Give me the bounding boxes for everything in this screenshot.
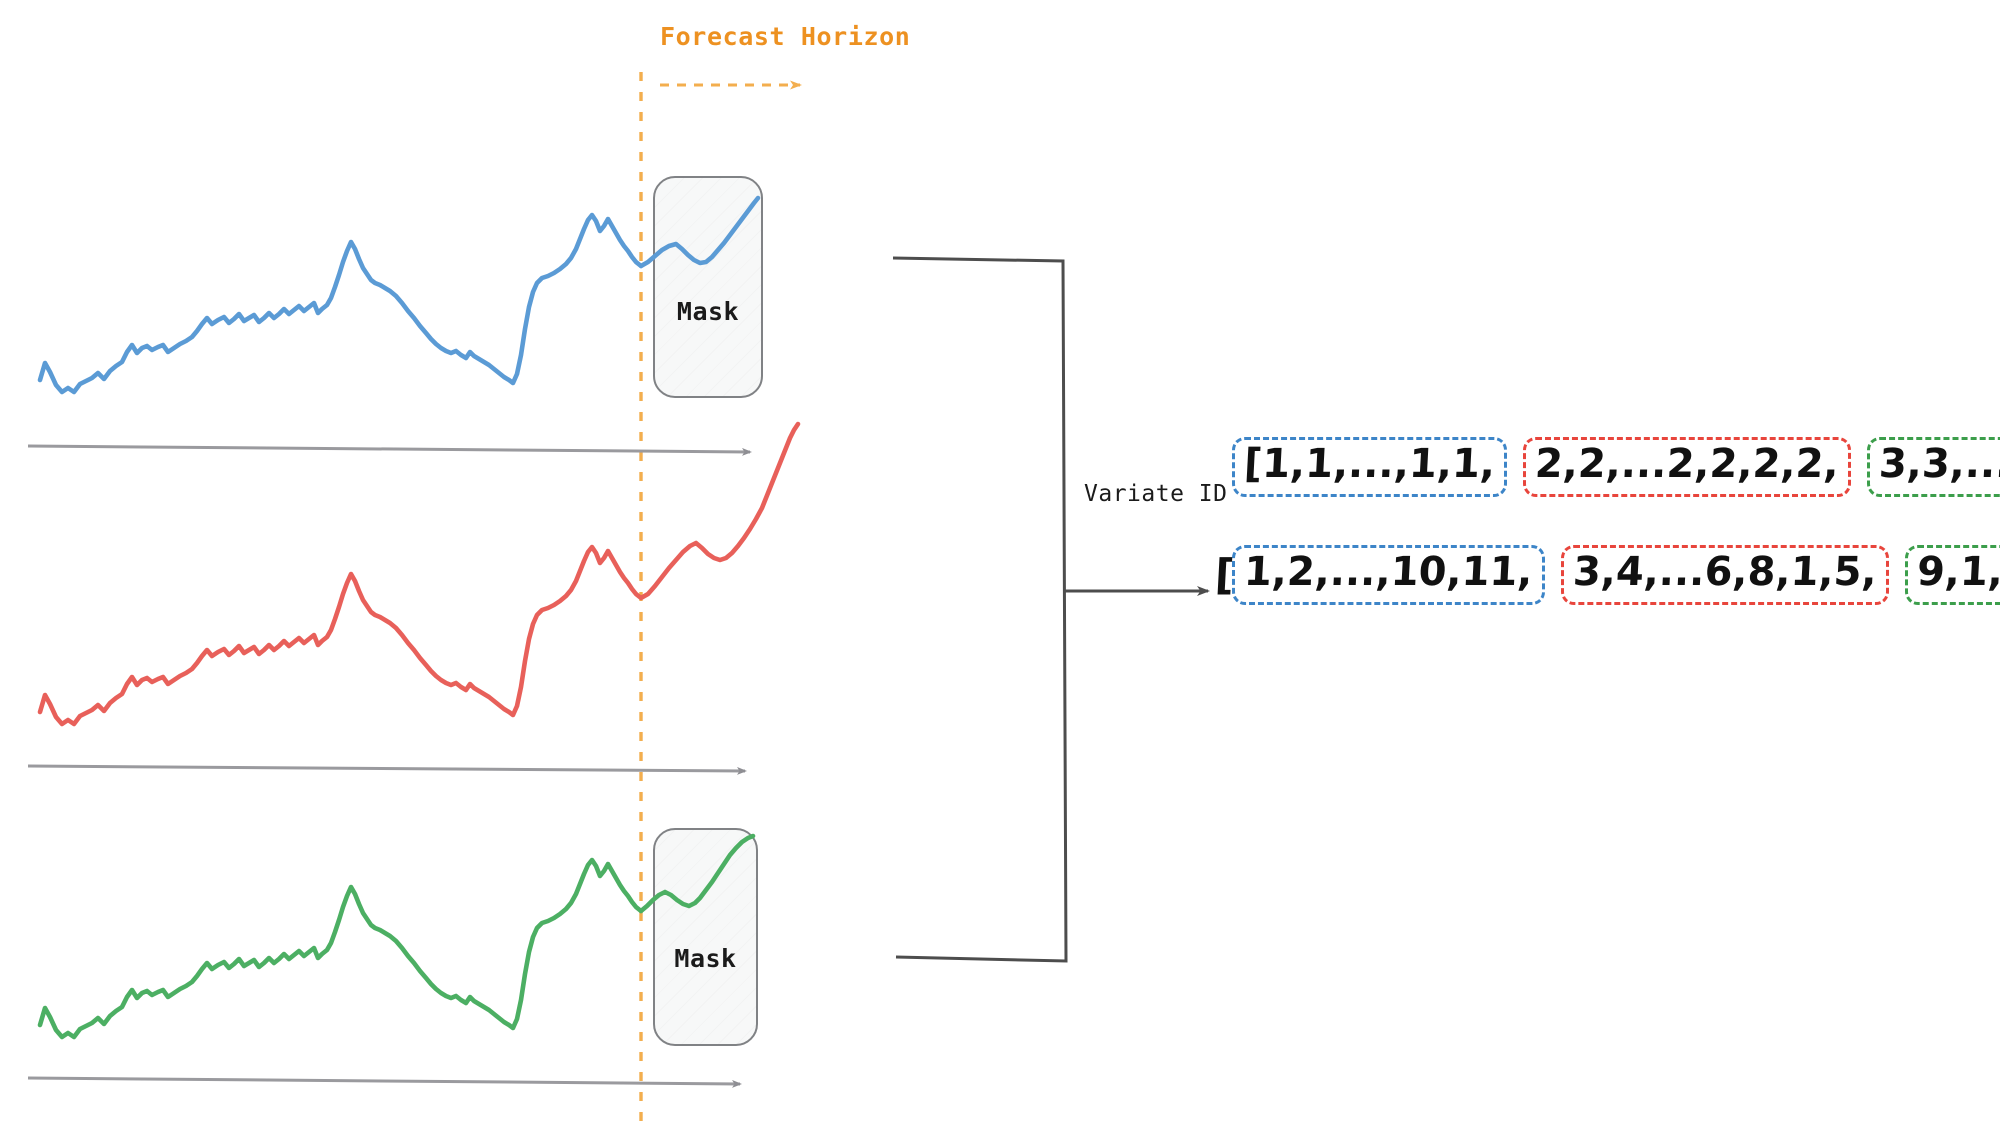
series-blue-forecast bbox=[641, 198, 758, 266]
token-text-time-red: 3,4,...6,8,1,5, bbox=[1572, 552, 1878, 592]
token-box-time-green[interactable]: 9,1,...5,3] bbox=[1905, 545, 2000, 605]
token-box-time-red[interactable]: 3,4,...6,8,1,5, bbox=[1561, 545, 1889, 605]
diagram-canvas: Forecast Horizon Mask Mask Variate ID [1… bbox=[0, 0, 2000, 1129]
token-text-time-green: 9,1,...5,3] bbox=[1915, 552, 2000, 592]
series-green-forecast bbox=[641, 836, 753, 911]
token-box-variate-blue[interactable]: [1,1,...,1,1, bbox=[1232, 437, 1507, 497]
time-id-sequence: [ 1,2,...,10,11, 3,4,...6,8,1,5, 9,1,...… bbox=[1215, 545, 2000, 605]
variate-id-sequence: [1,1,...,1,1, 2,2,...2,2,2,2, 3,3,...3,3… bbox=[1232, 437, 2000, 497]
token-box-variate-green[interactable]: 3,3,...3,3] bbox=[1867, 437, 2000, 497]
token-text-time-blue: 1,2,...,10,11, bbox=[1243, 552, 1534, 592]
variate-id-label: Variate ID bbox=[1084, 481, 1227, 507]
token-text-variate-blue: [1,1,...,1,1, bbox=[1243, 444, 1496, 484]
token-box-time-blue[interactable]: 1,2,...,10,11, bbox=[1232, 545, 1545, 605]
token-box-variate-red[interactable]: 2,2,...2,2,2,2, bbox=[1523, 437, 1851, 497]
token-text-variate-red: 2,2,...2,2,2,2, bbox=[1534, 444, 1840, 484]
token-text-variate-green: 3,3,...3,3] bbox=[1878, 444, 2000, 484]
sequence-open-bracket: [ bbox=[1214, 554, 1235, 596]
